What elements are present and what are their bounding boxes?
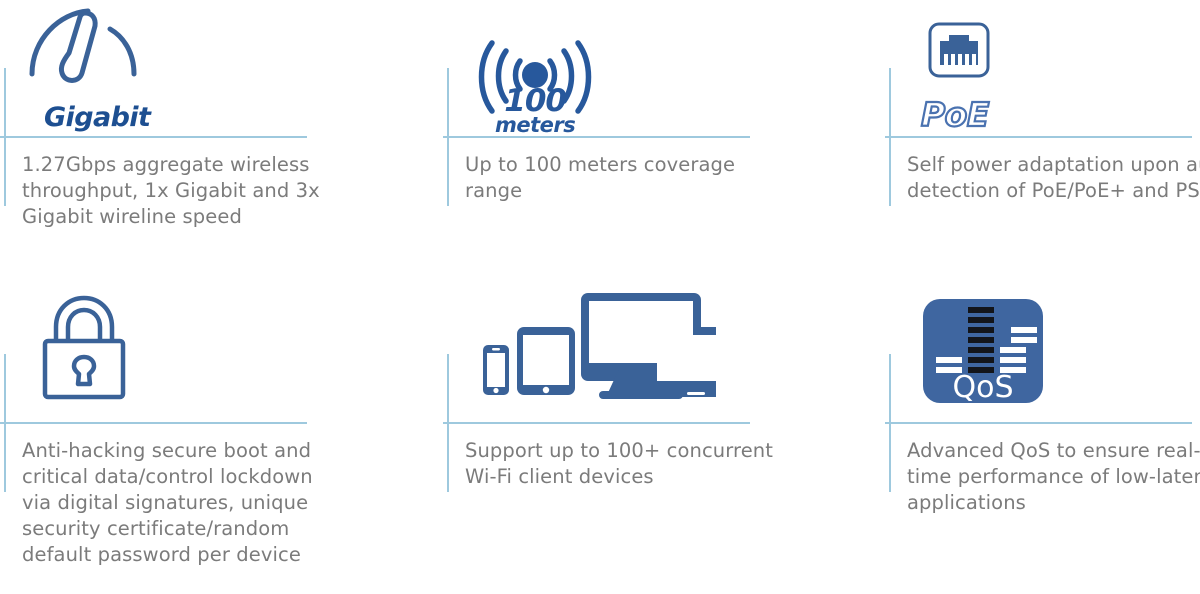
divider-line (443, 422, 750, 424)
feature-card-qos: QoS Advanced QoS to ensure real-time per… (885, 288, 1200, 419)
icon-area: QoS (885, 288, 1200, 419)
feature-description: Support up to 100+ concurrent Wi-Fi clie… (465, 438, 783, 490)
icon-area (443, 288, 783, 419)
gigabit-wordmark: Gigabit (44, 102, 150, 133)
feature-card-clients: Support up to 100+ concurrent Wi-Fi clie… (443, 288, 783, 419)
feature-card-gigabit: Gigabit 1.27Gbps aggregate wireless thro… (0, 0, 340, 131)
feature-description: Anti-hacking secure boot and critical da… (22, 438, 340, 568)
feature-card-poe: PoE Self power adaptation upon auto dete… (885, 0, 1200, 131)
divider-line (0, 136, 307, 138)
feature-description: 1.27Gbps aggregate wireless throughput, … (22, 152, 340, 230)
padlock-icon (38, 295, 130, 405)
feature-description: Advanced QoS to ensure real-time perform… (907, 438, 1200, 516)
poe-wordmark: PoE (921, 98, 989, 131)
icon-area: 100 meters (443, 0, 783, 131)
feature-description: Self power adaptation upon auto detectio… (907, 152, 1200, 204)
coverage-wordmark-unit: meters (495, 116, 575, 135)
divider-line (885, 136, 1192, 138)
speedometer-icon (22, 1, 144, 113)
feature-grid: Gigabit 1.27Gbps aggregate wireless thro… (0, 0, 1200, 594)
divider-line (443, 136, 750, 138)
equalizer-icon: QoS (923, 299, 1043, 407)
icon-area (0, 288, 340, 419)
coverage-wordmark: 100 meters (495, 87, 575, 135)
multi-device-icon (481, 291, 716, 405)
icon-area: PoE (885, 0, 1200, 131)
rj45-jack-icon (927, 21, 991, 83)
divider-line (0, 422, 307, 424)
svg-text:QoS: QoS (952, 370, 1013, 403)
feature-card-security: Anti-hacking secure boot and critical da… (0, 288, 340, 419)
feature-description: Up to 100 meters coverage range (465, 152, 783, 204)
feature-card-coverage: 100 meters Up to 100 meters coverage ran… (443, 0, 783, 131)
icon-area: Gigabit (0, 0, 340, 131)
coverage-wordmark-value: 100 (495, 87, 575, 116)
divider-line (885, 422, 1192, 424)
